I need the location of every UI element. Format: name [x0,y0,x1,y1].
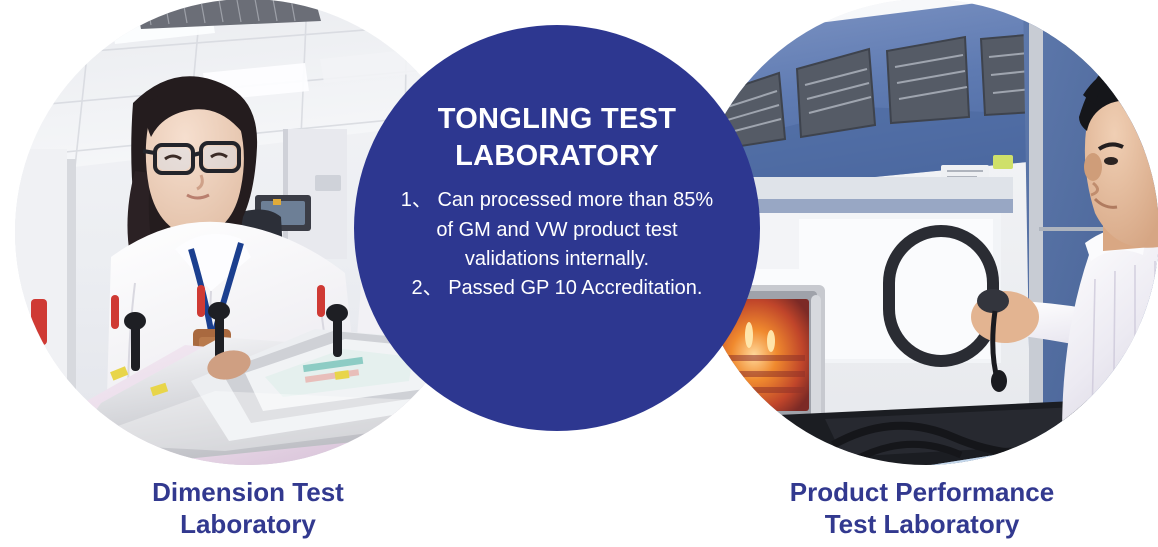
performance-lab-caption: Product Performance Test Laboratory [700,477,1144,540]
bullet-line-2: of GM and VW product test [401,216,713,245]
bullet-line-3: validations internally. [401,245,713,274]
performance-lab-photo [693,0,1158,465]
dimension-lab-caption: Dimension Test Laboratory [26,477,470,540]
center-title: TONGLING TEST LABORATORY [392,101,722,175]
center-info-circle: TONGLING TEST LABORATORY 1、 Can processe… [354,25,760,431]
bullet-line-1: 1、 Can processed more than 85% [401,186,713,215]
banner-root: TONGLING TEST LABORATORY 1、 Can processe… [0,0,1158,547]
center-bullet-list: 1、 Can processed more than 85% of GM and… [401,186,713,304]
bullet-line-4: 2、 Passed GP 10 Accreditation. [401,274,713,303]
